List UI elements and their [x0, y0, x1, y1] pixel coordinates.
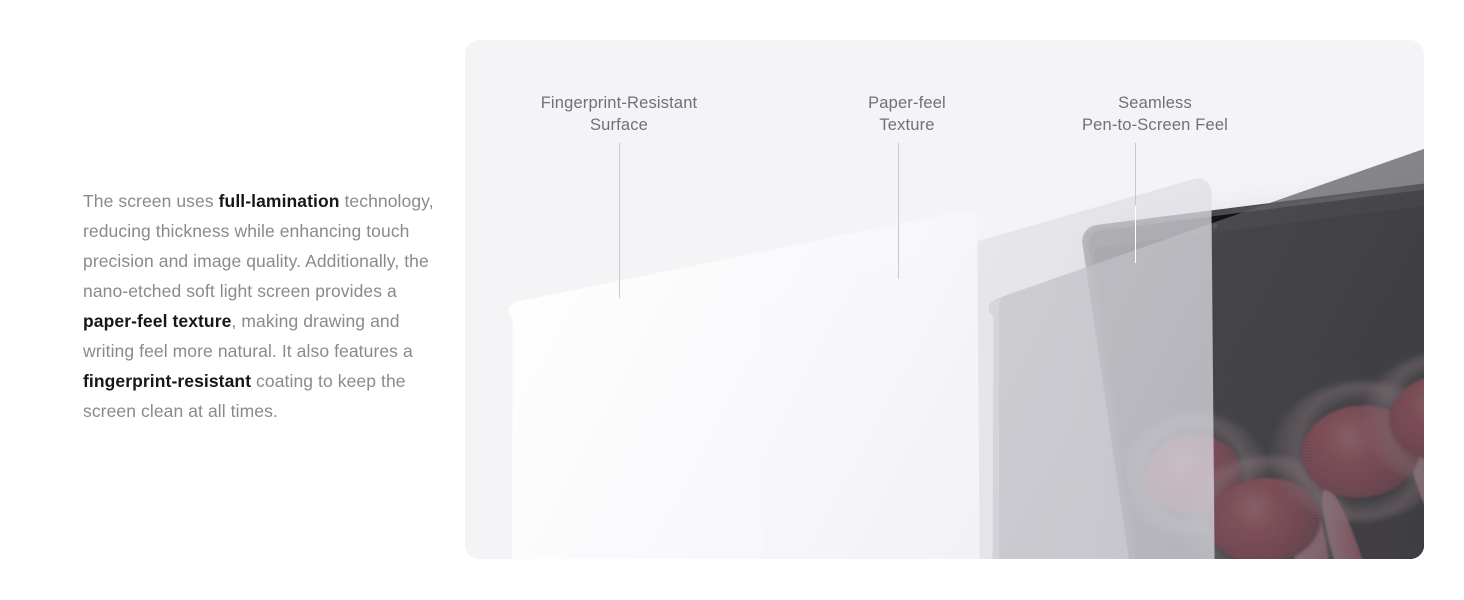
tablet-device [1080, 180, 1424, 559]
fingerprint-resistant-surface-sheet [505, 208, 980, 559]
tablet-chassis [1080, 180, 1424, 559]
text-segment: The screen uses [83, 191, 219, 211]
exploded-layer-stage [465, 40, 1424, 559]
emphasis-fingerprint-resistant: fingerprint-resistant [83, 371, 251, 391]
feature-section: The screen uses full-lamination technolo… [0, 0, 1464, 600]
screen-layers-illustration-card: Fingerprint-Resistant Surface Paper-feel… [465, 40, 1424, 559]
description-paragraph: The screen uses full-lamination technolo… [83, 186, 435, 426]
emphasis-full-lamination: full-lamination [219, 191, 340, 211]
tablet-screen [1093, 204, 1424, 559]
ambient-sensor-icon [1199, 226, 1204, 230]
front-camera-icon [1213, 224, 1218, 228]
screen-wallpaper [1093, 204, 1424, 559]
tablet-bezel [1087, 187, 1424, 559]
flower-bloom [1384, 369, 1424, 468]
description-column: The screen uses full-lamination technolo… [83, 186, 435, 426]
emphasis-paper-feel-texture: paper-feel texture [83, 311, 231, 331]
